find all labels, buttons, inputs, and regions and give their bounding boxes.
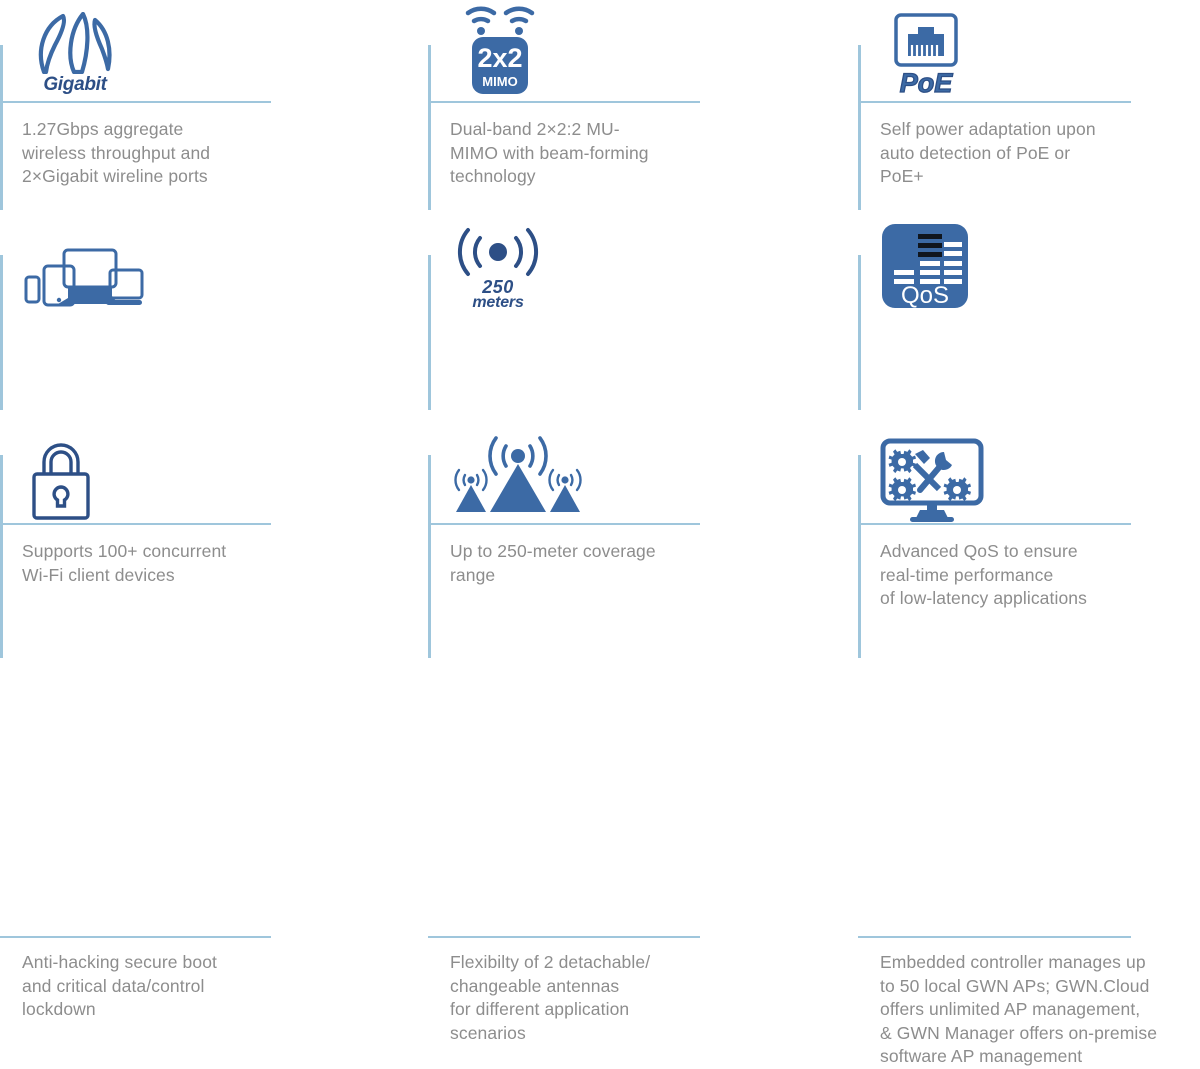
feature-description: Flexibilty of 2 detachable/ changeable a… [450, 951, 650, 1045]
accent-horizontal-rule [858, 936, 1131, 938]
accent-horizontal-rule [428, 936, 700, 938]
feature-cell-controller: Embedded controller manages up to 50 loc… [850, 410, 1200, 658]
svg-text:2x2: 2x2 [477, 43, 522, 73]
svg-text:QoS: QoS [901, 282, 949, 309]
feature-description: Anti-hacking secure boot and critical da… [22, 951, 217, 1022]
feature-cell-mimo: 2x2 MIMO Dual-band 2×2:2 MU- MIMO with b… [425, 0, 850, 210]
feature-cell-clients: Supports 100+ concurrent Wi-Fi client de… [0, 210, 425, 410]
feature-cell-qos: QoS Advanced QoS to ensure real-time per… [850, 210, 1200, 410]
feature-cell-coverage: 250 meters Up to 250-meter coverage rang… [425, 210, 850, 410]
feature-cell-antennas: Flexibilty of 2 detachable/ changeable a… [425, 410, 850, 658]
coverage-distance-unit: meters [472, 295, 523, 310]
svg-text:MIMO: MIMO [482, 74, 517, 89]
feature-description: 1.27Gbps aggregate wireless throughput a… [22, 118, 210, 189]
accent-vertical-bar [0, 255, 3, 410]
coverage-distance-value: 250 [472, 280, 523, 295]
gigabit-logo-icon: Gigabit [22, 0, 128, 96]
accent-horizontal-rule [0, 936, 271, 938]
qos-equalizer-icon: QoS [880, 210, 970, 310]
padlock-security-icon [22, 410, 100, 522]
feature-description: Self power adaptation upon auto detectio… [880, 118, 1096, 189]
gigabit-icon-label: Gigabit [43, 74, 106, 96]
accent-vertical-bar [858, 45, 861, 210]
coverage-icon-labels: 250 meters [472, 280, 523, 310]
feature-description: Embedded controller manages up to 50 loc… [880, 951, 1157, 1069]
accent-vertical-bar [428, 455, 431, 658]
feature-description: Dual-band 2×2:2 MU- MIMO with beam-formi… [450, 118, 649, 189]
detachable-antennas-icon [450, 410, 586, 522]
feature-cell-security: Anti-hacking secure boot and critical da… [0, 410, 425, 658]
accent-vertical-bar [428, 45, 431, 210]
multi-device-clients-icon [22, 210, 144, 310]
feature-grid: Gigabit 1.27Gbps aggregate wireless thro… [0, 0, 1200, 658]
accent-vertical-bar [858, 255, 861, 410]
embedded-controller-monitor-tools-icon [880, 410, 984, 522]
two-by-two-mimo-icon: 2x2 MIMO [450, 0, 550, 96]
svg-text:PoE: PoE [900, 68, 954, 96]
accent-vertical-bar [428, 255, 431, 410]
accent-vertical-bar [0, 45, 3, 210]
accent-vertical-bar [858, 455, 861, 658]
feature-cell-gigabit: Gigabit 1.27Gbps aggregate wireless thro… [0, 0, 425, 210]
accent-horizontal-rule [0, 101, 271, 103]
poe-ethernet-port-icon: PoE [880, 0, 972, 96]
coverage-range-waves-icon: 250 meters [450, 210, 546, 310]
feature-cell-poe: PoE Self power adaptation upon auto dete… [850, 0, 1200, 210]
accent-vertical-bar [0, 455, 3, 658]
accent-horizontal-rule [428, 101, 700, 103]
accent-horizontal-rule [858, 101, 1131, 103]
